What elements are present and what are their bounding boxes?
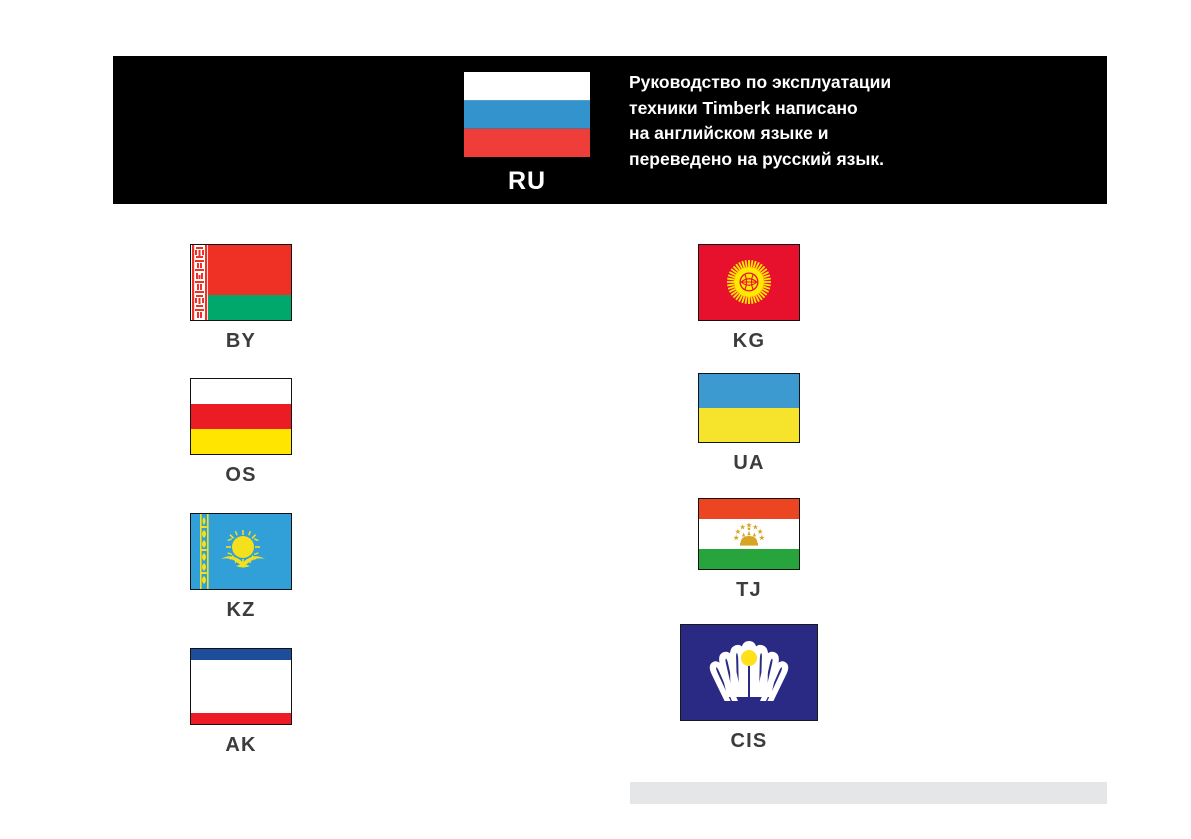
flag-label-ak: AK — [161, 735, 321, 755]
belarus-flag — [190, 244, 292, 321]
flag-cell-kg: KG — [669, 244, 829, 351]
header-message-line-3: на английском языке и — [629, 121, 1059, 147]
header-flag-label: RU — [464, 169, 590, 194]
kyrgyzstan-flag — [698, 244, 800, 321]
flag-cell-cis: CIS — [669, 624, 829, 751]
flag-cell-tj: TJ — [669, 498, 829, 600]
south-ossetia-flag — [190, 378, 292, 455]
ukraine-flag — [698, 373, 800, 443]
footer-placeholder-bar — [630, 782, 1107, 804]
flag-label-tj: TJ — [669, 580, 829, 600]
header-message: Руководство по эксплуатации техники Timb… — [629, 70, 1059, 173]
flag-cell-ua: UA — [669, 373, 829, 473]
header-banner: RU Руководство по эксплуатации техники T… — [113, 56, 1107, 204]
flag-cell-ak: AK — [161, 648, 321, 755]
flag-cell-kz: KZ — [161, 513, 321, 620]
flag-label-by: BY — [161, 331, 321, 351]
header-flag-block: RU — [464, 72, 590, 194]
flag-label-cis: CIS — [669, 731, 829, 751]
flag-cell-by: BY — [161, 244, 321, 351]
flag-label-os: OS — [161, 465, 321, 485]
crimea-flag — [190, 648, 292, 725]
header-message-line-4: переведено на русский язык. — [629, 147, 1059, 173]
flag-label-kg: KG — [669, 331, 829, 351]
russia-flag — [464, 72, 590, 157]
cis-flag — [680, 624, 818, 721]
kazakhstan-flag — [190, 513, 292, 590]
header-message-line-1: Руководство по эксплуатации — [629, 70, 1059, 96]
flag-label-ua: UA — [669, 453, 829, 473]
flag-label-kz: KZ — [161, 600, 321, 620]
flag-cell-os: OS — [161, 378, 321, 485]
tajikistan-flag — [698, 498, 800, 570]
header-message-line-2: техники Timberk написано — [629, 96, 1059, 122]
